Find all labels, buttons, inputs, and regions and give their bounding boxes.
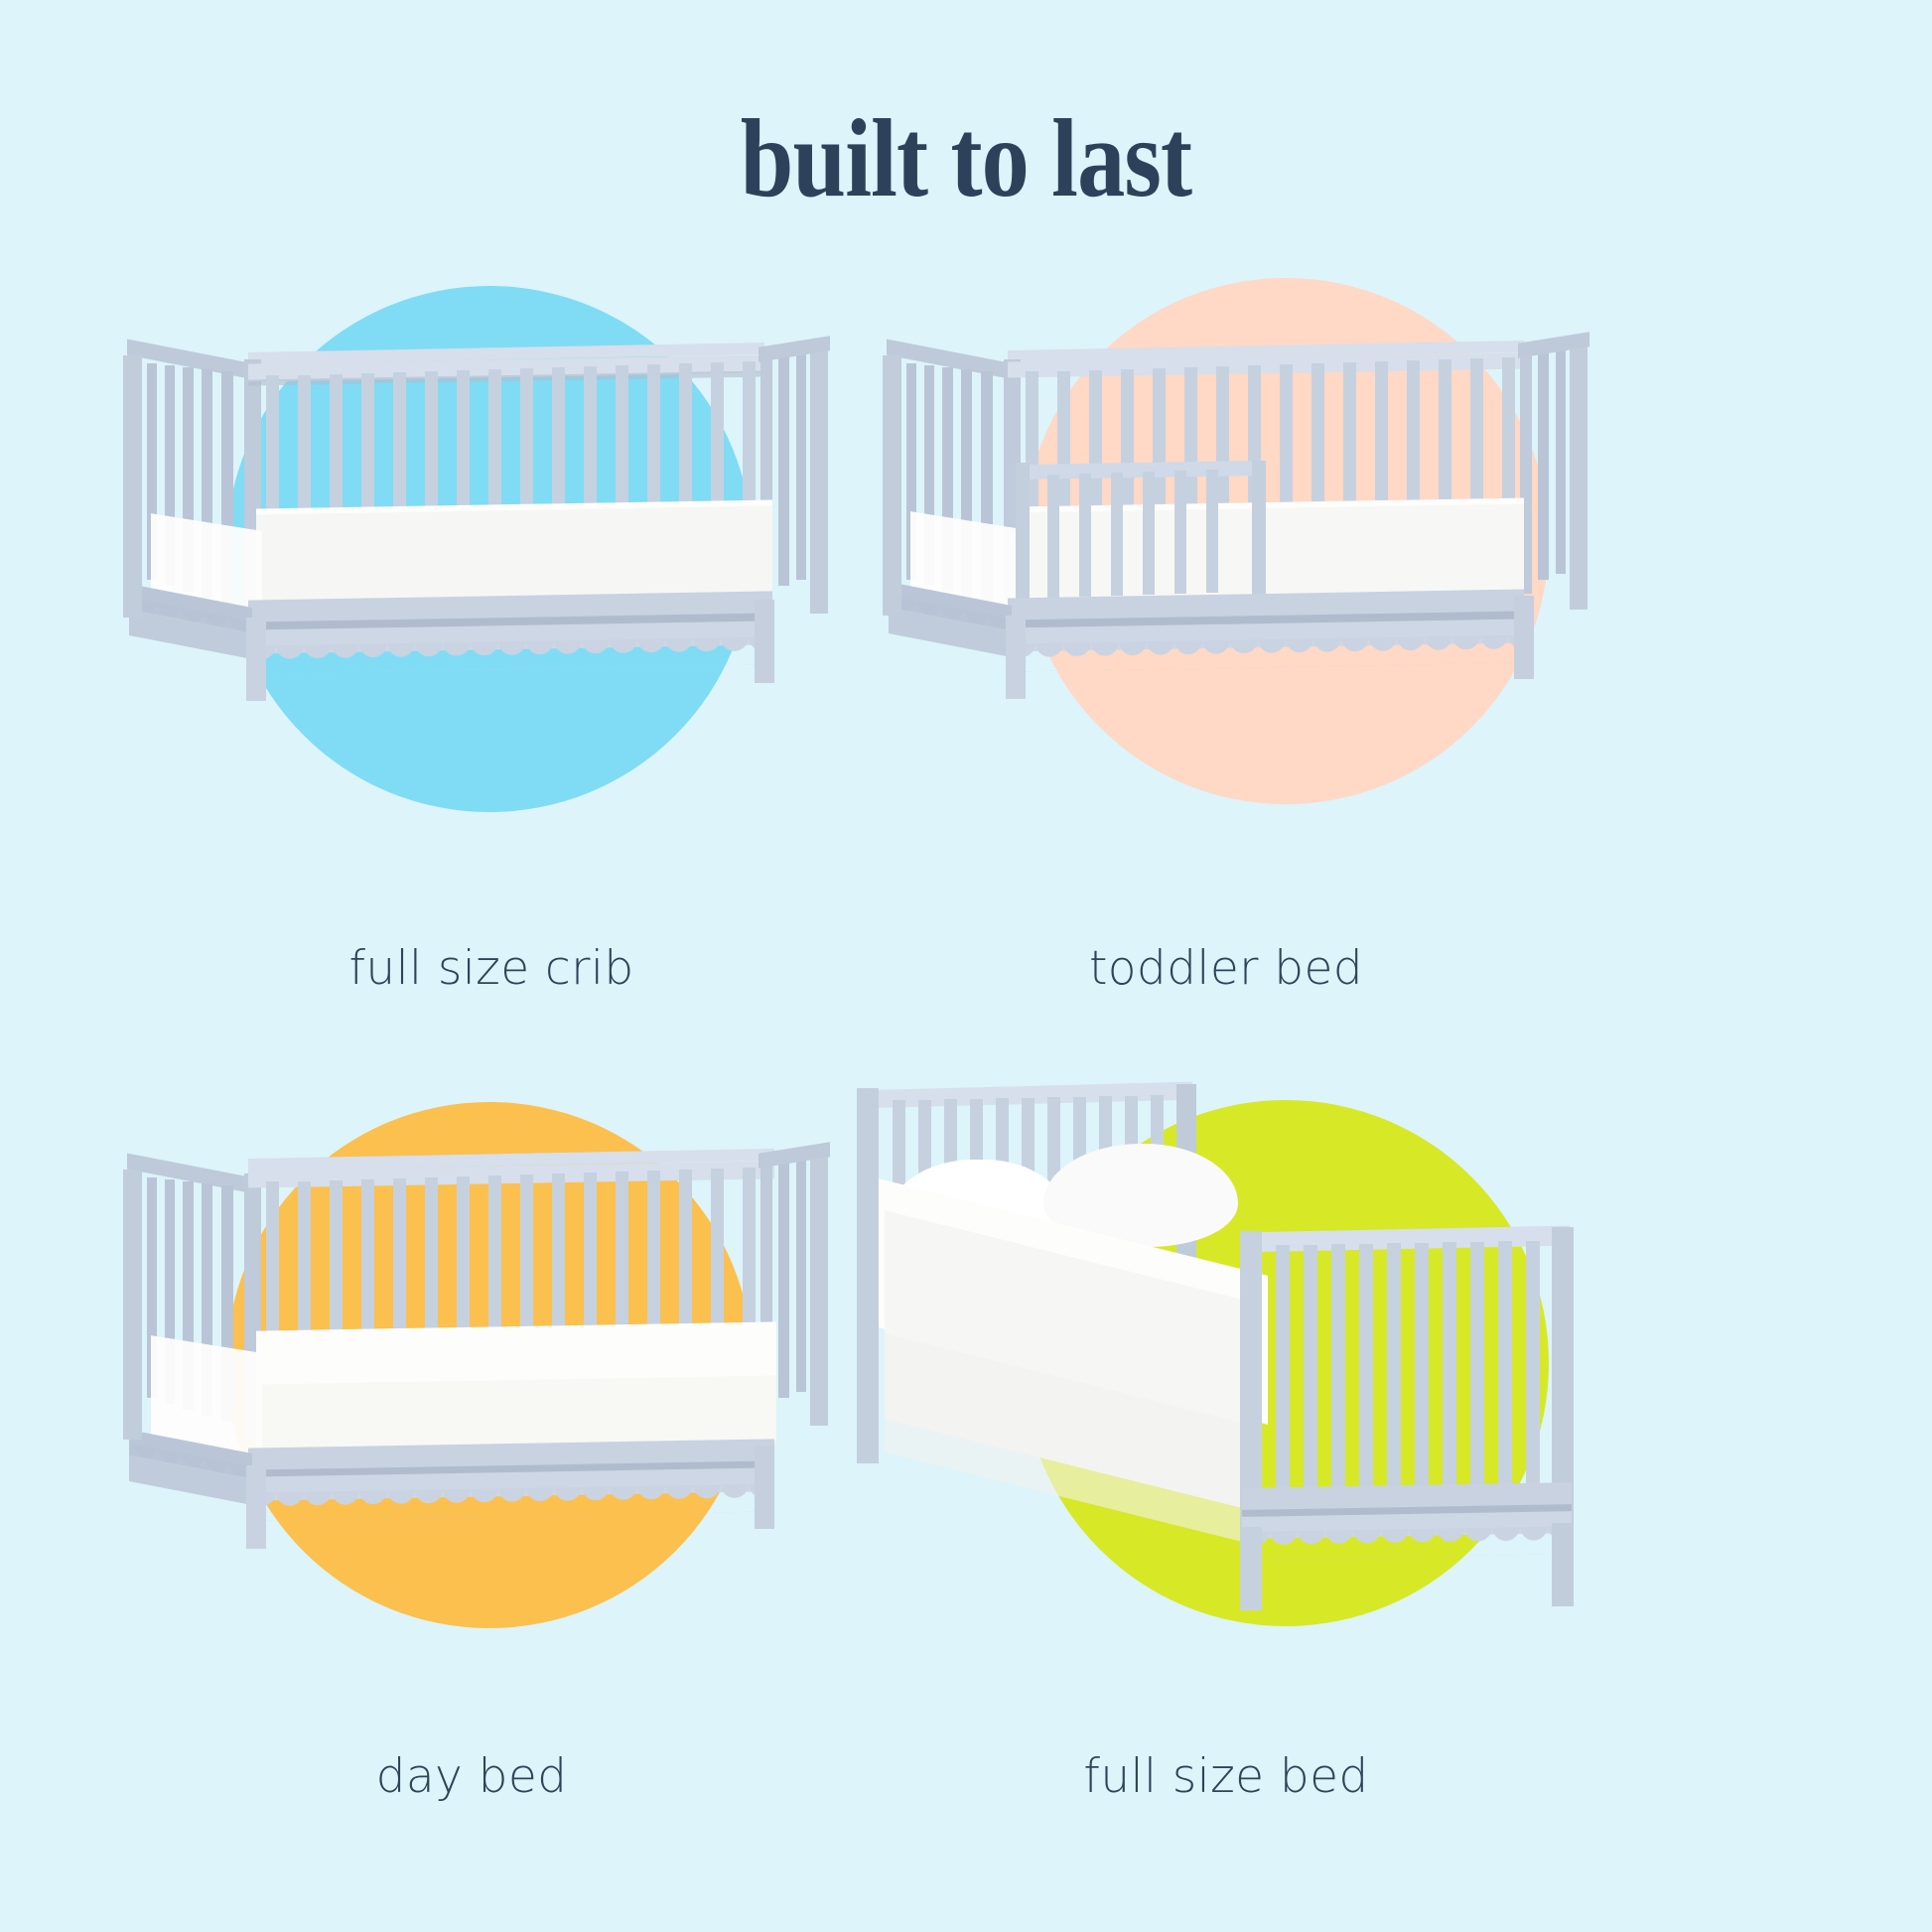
toddler-bed-icon (849, 268, 1633, 884)
infographic-canvas: built to last (0, 0, 1932, 1932)
panel-full-size-bed (849, 1082, 1633, 1698)
full-bed-icon (849, 1082, 1633, 1698)
panel-full-size-crib (99, 268, 884, 884)
panel-day-bed (99, 1082, 884, 1698)
crib-icon (99, 268, 884, 884)
caption-full-size-bed: full size bed (874, 1749, 1579, 1804)
panel-toddler-bed (849, 268, 1633, 884)
day-bed-icon (99, 1082, 884, 1698)
caption-full-size-crib: full size crib (139, 941, 844, 996)
caption-toddler-bed: toddler bed (874, 941, 1579, 996)
page-title: built to last (135, 103, 1797, 214)
caption-day-bed: day bed (119, 1749, 824, 1804)
